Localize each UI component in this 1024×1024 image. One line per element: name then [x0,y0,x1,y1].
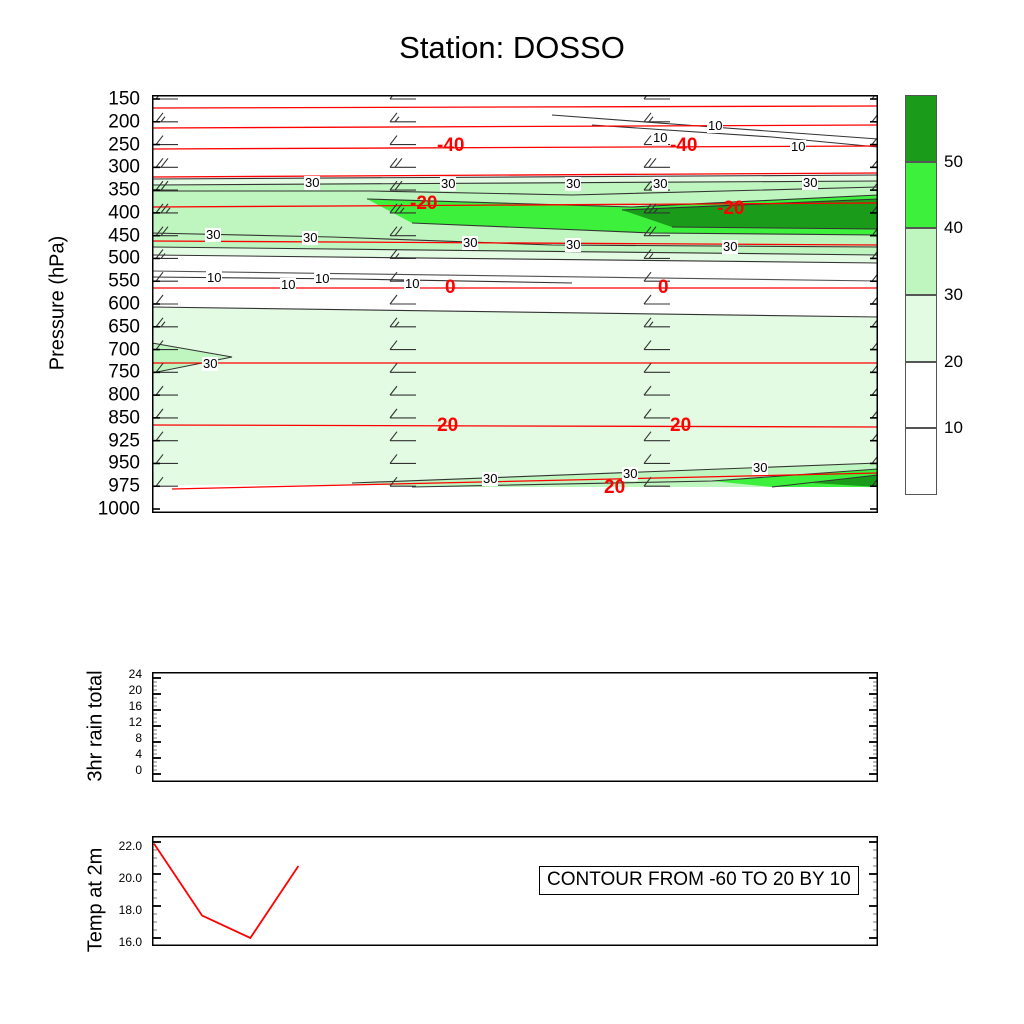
main-y-axis-labels: 1502002503003504004505005506006507007508… [0,95,148,519]
pressure-tick-label: 600 [108,295,140,314]
isotach-label: 30 [440,177,456,191]
isotach-label: 30 [482,472,498,486]
axis-tick-label: 16 [129,699,142,713]
isotherm-label: -40 [437,135,464,157]
isotach-label: 10 [404,277,420,291]
isotach-label: 30 [202,357,218,371]
colorbar-tick-label: 30 [944,285,963,305]
pressure-tick-label: 450 [108,226,140,245]
isotach-label: 30 [462,236,478,250]
isotach-label: 10 [652,131,668,145]
isotach-label: 10 [206,271,222,285]
colorbar-segment [905,228,937,295]
isotach-label: 30 [752,461,768,475]
rain-panel-frame [152,672,878,782]
colorbar-tick-label: 20 [944,352,963,372]
isotach-label: 30 [622,467,638,481]
isotach-label: 10 [280,278,296,292]
axis-tick-label: 12 [129,715,142,729]
isotach-label: 30 [302,231,318,245]
axis-tick-label: 20.0 [119,871,142,885]
isotach-label: 10 [790,140,806,154]
colorbar-segment [905,162,937,229]
axis-tick-label: 4 [135,747,142,761]
axis-tick-label: 8 [135,731,142,745]
isotach-label: 10 [314,272,330,286]
pressure-tick-label: 750 [108,363,140,382]
colorbar-tick-label: 50 [944,152,963,172]
pressure-tick-label: 250 [108,135,140,154]
colorbar-segment [905,295,937,362]
axis-tick-label: 16.0 [119,935,142,949]
pressure-tick-label: 925 [108,431,140,450]
axis-tick-label: 18.0 [119,903,142,917]
page-title: Station: DOSSO [0,30,1024,66]
rain-panel [152,672,878,782]
axis-tick-label: 0 [135,763,142,777]
pressure-tick-label: 700 [108,340,140,359]
pressure-tick-label: 150 [108,90,140,109]
pressure-tick-label: 950 [108,454,140,473]
isotherm-label: 0 [658,277,669,299]
axis-tick-label: 24 [129,667,142,681]
colorbar [905,95,937,495]
isotherm-label: -40 [670,135,697,157]
pressure-tick-label: 350 [108,181,140,200]
rain-panel-y-labels: 24201612840 [60,668,148,786]
isotherm-label: -20 [410,193,437,215]
isotach-label: 30 [205,228,221,242]
isotach-label: 30 [652,177,668,191]
isotach-label: 30 [802,176,818,190]
temp-panel-y-labels: 22.020.018.016.0 [60,840,148,948]
pressure-tick-label: 500 [108,249,140,268]
axis-tick-label: 20 [129,683,142,697]
colorbar-tick-label: 10 [944,418,963,438]
isotach-label: 10 [707,119,723,133]
isotach-label: 30 [565,177,581,191]
isotherm-label: 20 [437,415,458,437]
pressure-tick-label: 400 [108,203,140,222]
isotach-label: 30 [565,238,581,252]
pressure-tick-label: 550 [108,272,140,291]
colorbar-labels: 5040302010 [944,95,1014,495]
pressure-tick-label: 300 [108,158,140,177]
colorbar-segment [905,428,937,495]
isotherm-label: 20 [670,415,691,437]
figure-canvas: Station: DOSSO Pressure (hPa) 1502002503… [0,0,1024,1024]
cross-section-plot [152,95,878,513]
pressure-tick-label: 975 [108,477,140,496]
pressure-tick-label: 200 [108,112,140,131]
contour-info-box: CONTOUR FROM -60 TO 20 BY 10 [539,866,859,895]
pressure-tick-label: 1000 [98,500,140,519]
pressure-tick-label: 850 [108,408,140,427]
colorbar-tick-label: 40 [944,218,963,238]
pressure-tick-label: 650 [108,317,140,336]
isotach-label: 30 [722,240,738,254]
isotherm-label: -20 [717,198,744,220]
colorbar-segment [905,362,937,429]
pressure-tick-label: 800 [108,386,140,405]
isotherm-label: 0 [445,277,456,299]
colorbar-segment [905,95,937,162]
isotach-label: 30 [304,176,320,190]
vertical-cross-section-panel: -40 -40 -20 -20 0 0 20 20 20 30 30 30 30… [152,95,878,513]
axis-tick-label: 22.0 [119,839,142,853]
